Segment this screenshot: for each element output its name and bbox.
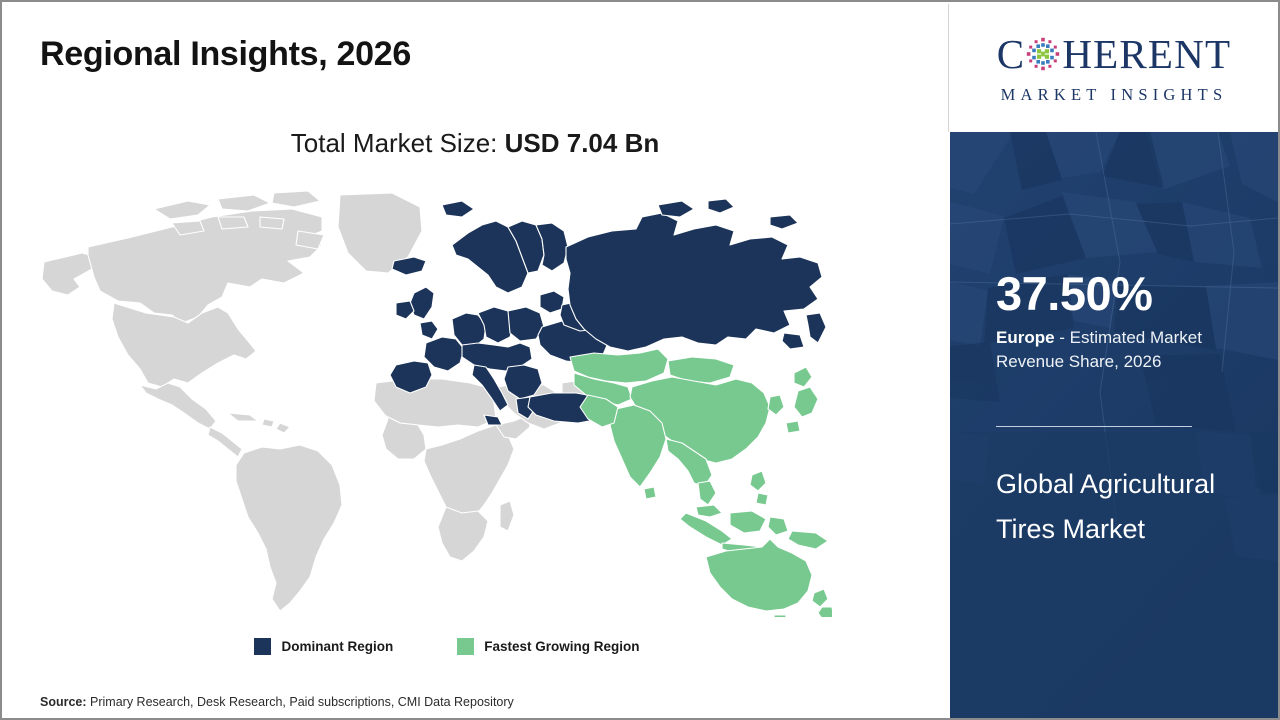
- logo-word-after: HERENT: [1062, 34, 1231, 75]
- total-market-size-label: Total Market Size:: [291, 128, 505, 158]
- vertical-divider: [948, 4, 949, 132]
- legend-label-fastest-growing: Fastest Growing Region: [484, 639, 639, 654]
- share-percent-value: 37.50%: [996, 270, 1152, 317]
- page-title: Regional Insights, 2026: [40, 35, 411, 74]
- logo-word-before: C: [997, 34, 1026, 75]
- total-market-size: Total Market Size: USD 7.04 Bn: [2, 128, 948, 159]
- logo-wordmark: C: [997, 31, 1231, 77]
- panel-content: 37.50% Europe - Estimated Market Revenue…: [996, 132, 1246, 718]
- legend-item-fastest-growing: Fastest Growing Region: [457, 638, 639, 655]
- map-region-fastest-growing: [570, 349, 832, 617]
- source-label: Source:: [40, 695, 90, 709]
- legend-swatch-dominant: [254, 638, 271, 655]
- source-note: Source: Primary Research, Desk Research,…: [40, 695, 514, 709]
- legend-item-dominant: Dominant Region: [254, 638, 393, 655]
- panel-divider-rule: [996, 426, 1192, 427]
- legend-label-dominant: Dominant Region: [281, 639, 393, 654]
- map-region-other: [42, 191, 422, 611]
- globe-icon: [1025, 36, 1061, 72]
- legend-swatch-fastest-growing: [457, 638, 474, 655]
- share-description: Europe - Estimated Market Revenue Share,…: [996, 326, 1246, 374]
- map-legend: Dominant Region Fastest Growing Region: [2, 638, 892, 655]
- infographic-slide: Regional Insights, 2026 Total Market Siz…: [0, 0, 1280, 720]
- world-map: [22, 187, 832, 617]
- left-content-area: Regional Insights, 2026 Total Market Siz…: [2, 2, 948, 718]
- world-map-svg: [22, 187, 832, 617]
- source-text: Primary Research, Desk Research, Paid su…: [90, 695, 514, 709]
- share-region-name: Europe: [996, 328, 1055, 347]
- logo-subtitle: MARKET INSIGHTS: [1001, 85, 1228, 105]
- total-market-size-value: USD 7.04 Bn: [505, 128, 660, 158]
- highlight-panel: 37.50% Europe - Estimated Market Revenue…: [950, 132, 1278, 718]
- market-name: Global Agricultural Tires Market: [996, 462, 1246, 552]
- brand-logo: C: [950, 4, 1278, 132]
